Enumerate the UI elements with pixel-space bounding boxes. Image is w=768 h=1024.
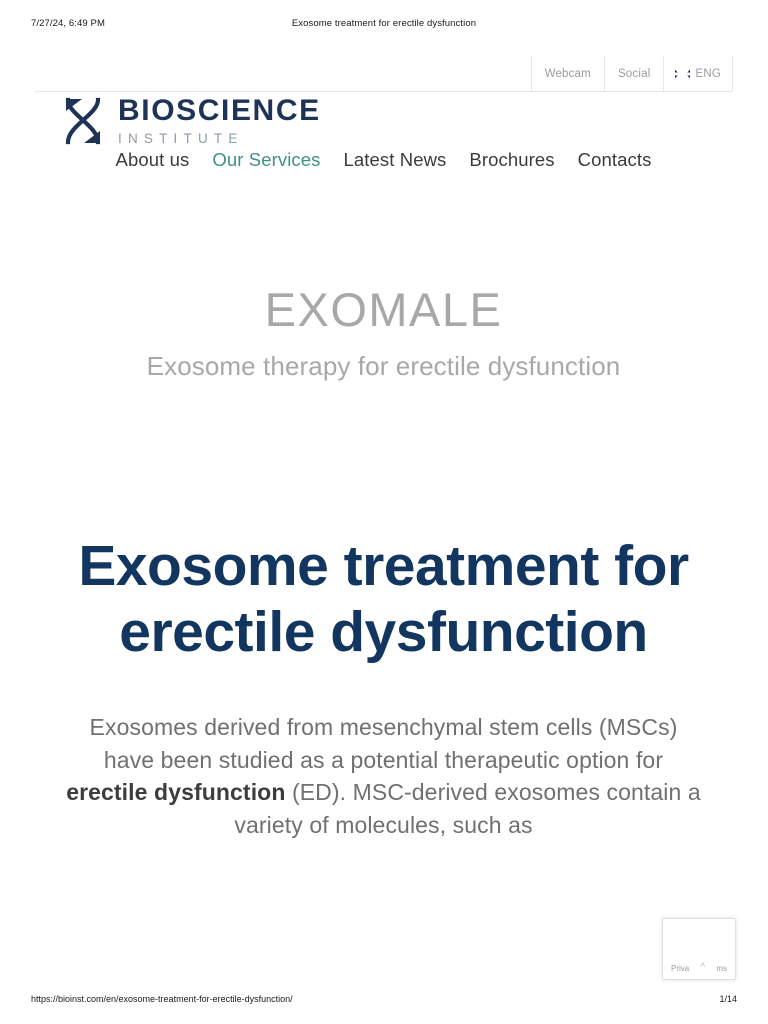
recaptcha-privacy-label[interactable]: Priva xyxy=(671,964,689,973)
recaptcha-badge[interactable]: Priva ^ ms xyxy=(662,918,736,980)
nav-item-about-us[interactable]: About us xyxy=(116,149,190,171)
brand-text: BIOSCIENCE INSTITUTE xyxy=(118,96,321,146)
utility-item-social-label: Social xyxy=(618,68,651,80)
article-body: Exosomes derived from mesenchymal stem c… xyxy=(34,711,733,842)
recaptcha-footer: Priva ^ ms xyxy=(663,963,735,973)
article-title: Exosome treatment for erectile dysfuncti… xyxy=(34,534,733,665)
utility-bar: Webcam Social ENG xyxy=(34,56,733,92)
dna-helix-icon xyxy=(62,96,104,146)
nav-item-brochures[interactable]: Brochures xyxy=(469,149,554,171)
nav-item-contacts[interactable]: Contacts xyxy=(578,149,652,171)
utility-item-webcam[interactable]: Webcam xyxy=(531,56,604,91)
hero-subtitle: Exosome therapy for erectile dysfunction xyxy=(34,352,733,382)
nav-item-latest-news[interactable]: Latest News xyxy=(344,149,447,171)
hero-section: EXOMALE Exosome therapy for erectile dys… xyxy=(34,284,733,382)
utility-item-social[interactable]: Social xyxy=(604,56,664,91)
language-label: ENG xyxy=(695,68,721,80)
article-section: Exosome treatment for erectile dysfuncti… xyxy=(34,534,733,842)
uk-flag-icon xyxy=(675,69,690,79)
nav-item-our-services[interactable]: Our Services xyxy=(212,149,320,171)
brand-subtitle: INSTITUTE xyxy=(118,132,321,146)
hero-title: EXOMALE xyxy=(34,284,733,336)
print-header: 7/27/24, 6:49 PM Exosome treatment for e… xyxy=(0,14,768,32)
article-body-part2: (ED). MSC-derived exosomes contain a var… xyxy=(234,779,700,838)
page-content: Webcam Social ENG BIOSCIENCE INSTITUTE xyxy=(34,44,734,974)
article-body-part1: Exosomes derived from mesenchymal stem c… xyxy=(90,714,678,773)
utility-item-webcam-label: Webcam xyxy=(545,68,591,80)
print-document-title: Exosome treatment for erectile dysfuncti… xyxy=(0,18,768,29)
main-navigation: About us Our Services Latest News Brochu… xyxy=(34,149,733,171)
print-url: https://bioinst.com/en/exosome-treatment… xyxy=(31,994,293,1004)
chevron-up-icon[interactable]: ^ xyxy=(700,963,705,973)
recaptcha-terms-label[interactable]: ms xyxy=(716,964,727,973)
brand-logo[interactable]: BIOSCIENCE INSTITUTE xyxy=(62,96,321,146)
brand-name: BIOSCIENCE xyxy=(118,96,321,126)
print-page-number: 1/14 xyxy=(719,994,737,1004)
article-body-highlight: erectile dysfunction xyxy=(66,779,285,805)
language-selector[interactable]: ENG xyxy=(663,56,733,91)
print-footer: https://bioinst.com/en/exosome-treatment… xyxy=(0,994,768,1008)
